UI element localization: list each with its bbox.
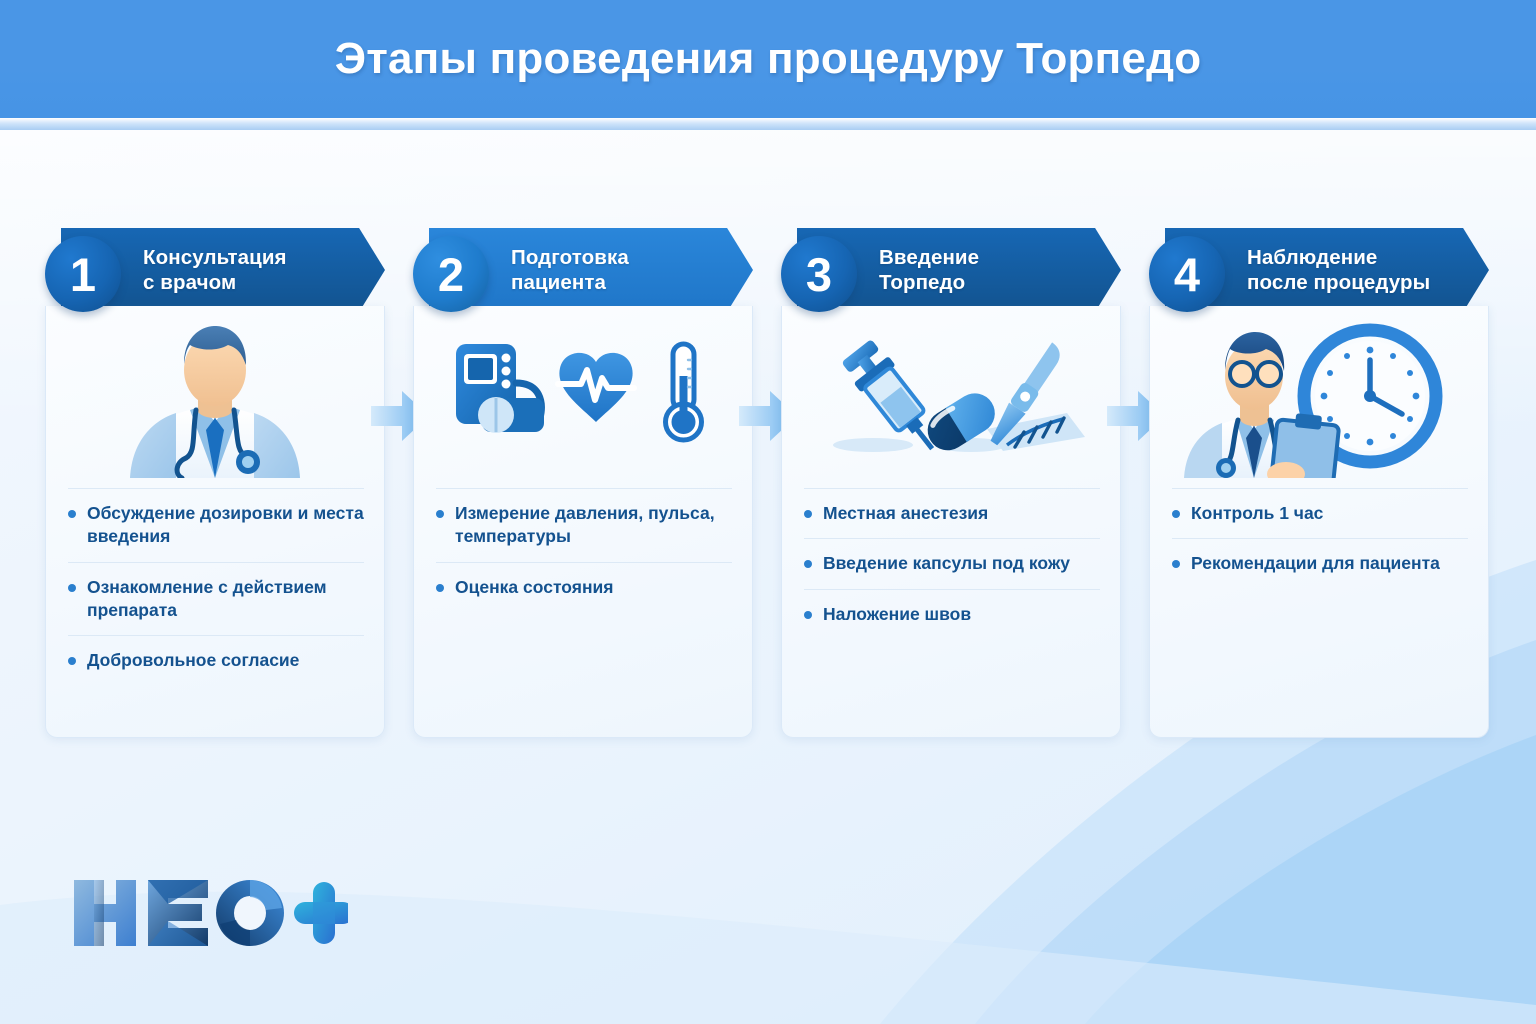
list-item: Введение капсулы под кожу: [804, 538, 1100, 588]
bullet-dot-icon: [804, 611, 812, 619]
syringe-capsule-scalpel-icon: [782, 306, 1120, 482]
list-item: Рекомендации для пациента: [1172, 538, 1468, 588]
bullet-dot-icon: [1172, 510, 1180, 518]
vitals-monitor-icon: [414, 306, 752, 482]
bullet-dot-icon: [68, 657, 76, 665]
arrow-right-icon: [753, 228, 781, 738]
bullet-list-1: Обсуждение дозировки и места введения Оз…: [46, 482, 384, 697]
bullet-dot-icon: [436, 584, 444, 592]
neo-plus-logo[interactable]: [68, 876, 348, 950]
page-header-band: Этапы проведения процедуру Торпедо: [0, 0, 1536, 118]
bullet-list-4: Контроль 1 час Рекомендации для пациента: [1150, 482, 1488, 601]
list-item: Контроль 1 час: [1172, 488, 1468, 538]
infographic-stage: Этапы проведения процедуру Торпедо Консу…: [0, 0, 1536, 1024]
list-item: Местная анестезия: [804, 488, 1100, 538]
bullet-dot-icon: [1172, 560, 1180, 568]
bullet-list-2: Измерение давления, пульса, температуры …: [414, 482, 752, 624]
page-title: Этапы проведения процедуру Торпедо: [335, 34, 1202, 84]
bullet-dot-icon: [804, 510, 812, 518]
step-title-3: Введение Торпедо: [879, 245, 979, 295]
bullet-list-3: Местная анестезия Введение капсулы под к…: [782, 482, 1120, 651]
step-number-badge-3: 3: [781, 236, 857, 312]
doctor-consultation-icon: [46, 306, 384, 482]
step-number-badge-2: 2: [413, 236, 489, 312]
step-card-3[interactable]: Введение Торпедо 3: [781, 228, 1121, 738]
bullet-dot-icon: [68, 584, 76, 592]
list-item: Измерение давления, пульса, температуры: [436, 488, 732, 562]
list-item: Ознакомление с действием препарата: [68, 562, 364, 636]
step-title-2: Подготовка пациента: [511, 245, 629, 295]
list-item: Наложение швов: [804, 589, 1100, 639]
bullet-dot-icon: [436, 510, 444, 518]
step-title-1: Консультация с врачом: [143, 245, 287, 295]
steps-row: Консультация с врачом 1: [45, 228, 1491, 738]
step-card-4[interactable]: Наблюдение после процедуры 4: [1149, 228, 1489, 738]
arrow-right-icon: [385, 228, 413, 738]
step-title-4: Наблюдение после процедуры: [1247, 245, 1430, 295]
step-card-2[interactable]: Подготовка пациента 2: [413, 228, 753, 738]
step-body-4: Контроль 1 час Рекомендации для пациента: [1149, 306, 1489, 738]
doctor-clock-icon: [1150, 306, 1488, 482]
step-card-1[interactable]: Консультация с врачом 1: [45, 228, 385, 738]
bullet-dot-icon: [804, 560, 812, 568]
arrow-right-icon: [1121, 228, 1149, 738]
step-number-badge-1: 1: [45, 236, 121, 312]
list-item: Оценка состояния: [436, 562, 732, 612]
list-item: Обсуждение дозировки и места введения: [68, 488, 364, 562]
bullet-dot-icon: [68, 510, 76, 518]
step-body-2: Измерение давления, пульса, температуры …: [413, 306, 753, 738]
step-number-badge-4: 4: [1149, 236, 1225, 312]
step-body-3: Местная анестезия Введение капсулы под к…: [781, 306, 1121, 738]
step-body-1: Обсуждение дозировки и места введения Оз…: [45, 306, 385, 738]
header-underline: [0, 118, 1536, 130]
list-item: Добровольное согласие: [68, 635, 364, 685]
